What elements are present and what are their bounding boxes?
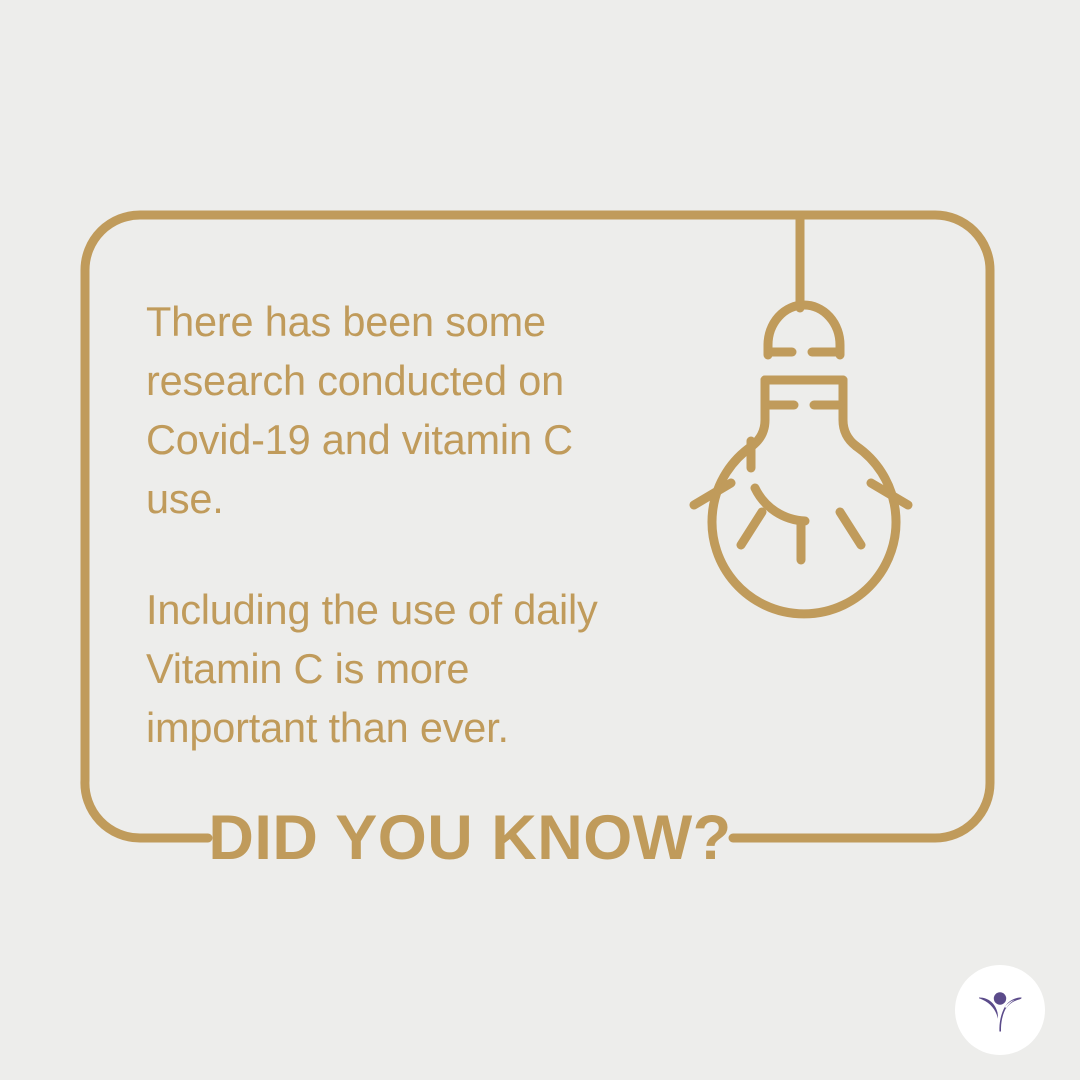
- body-copy: There has been some research conducted o…: [146, 292, 636, 757]
- lightbulb-screw-base-right: [843, 380, 856, 446]
- headline-did-you-know: DID YOU KNOW?: [0, 802, 940, 874]
- paragraph-2: Including the use of daily Vitamin C is …: [146, 580, 636, 757]
- lightbulb-shine-arc: [755, 488, 805, 521]
- logo-head: [994, 992, 1006, 1004]
- light-ray-1: [694, 483, 731, 505]
- light-ray-5: [871, 483, 908, 505]
- poster-canvas: There has been some research conducted o…: [0, 0, 1080, 1080]
- lightbulb-socket-cap: [768, 305, 840, 355]
- lightbulb-glass: [712, 446, 896, 614]
- light-ray-4: [840, 512, 861, 545]
- logo-body: [999, 1007, 1006, 1031]
- human-figure-logo-icon: [974, 984, 1026, 1036]
- paragraph-1: There has been some research conducted o…: [146, 292, 636, 528]
- logo-arm-right: [1004, 997, 1022, 1009]
- logo-badge: [955, 965, 1045, 1055]
- lightbulb-screw-base: [752, 380, 765, 446]
- light-ray-2: [741, 512, 762, 545]
